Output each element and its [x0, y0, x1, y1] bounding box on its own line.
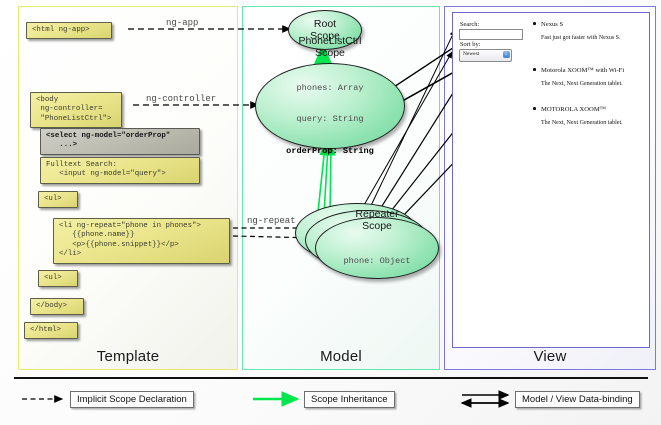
bullet-icon — [533, 22, 536, 25]
view-sort-label: Sort by: — [460, 41, 480, 48]
column-label-view: View — [445, 348, 655, 365]
code-box-input-tag: Fulltext Search: <input ng-model="query"… — [40, 157, 200, 184]
column-model: Model — [242, 6, 440, 370]
column-label-template: Template — [19, 348, 237, 365]
list-item[interactable]: Motorola XOOM™ with Wi-Fi The Next, Next… — [541, 67, 641, 88]
edge-label-ng-repeat: ng-repeat — [247, 216, 296, 226]
list-item[interactable]: MOTOROLA XOOM™ The Next, Next Generation… — [541, 106, 641, 127]
phone-name: Motorola XOOM™ with Wi-Fi — [541, 67, 641, 75]
edge-label-ng-controller: ng-controller — [146, 94, 216, 104]
code-box-select-tag: <select ng-model="orderProp" ...> — [40, 128, 200, 155]
scope-phonelistctrl: PhoneListCtrl Scope phones: Array query:… — [255, 63, 405, 149]
phone-snippet: The Next, Next Generation tablet. — [541, 119, 641, 127]
scope-prop-orderprop: orderProp: String — [286, 146, 374, 156]
legend-item-scope-inheritance: Scope Inheritance — [304, 391, 395, 408]
scope-prop-phone: phone: Object — [343, 256, 410, 266]
chevron-updown-icon — [503, 51, 510, 58]
code-box-body-tag: <body ng-controller= "PhoneListCtrl"> — [30, 92, 122, 128]
sort-by-select[interactable]: Newest — [459, 49, 512, 62]
scope-prop-phones: phones: Array — [286, 83, 374, 93]
code-box-body-close-tag: </body> — [30, 298, 84, 315]
scope-phonelistctrl-title-2: Scope — [315, 47, 345, 59]
legend-item-model-view-data-binding: Model / View Data-binding — [515, 391, 640, 408]
edge-label-ng-app: ng-app — [166, 18, 198, 28]
scope-phonelistctrl-props: phones: Array query: String orderProp: S… — [286, 62, 374, 176]
legend-item-implicit-scope-declaration: Implicit Scope Declaration — [70, 391, 194, 408]
bullet-icon — [533, 107, 536, 110]
code-box-ul-close-tag: <ul> — [38, 270, 78, 287]
scope-repeater-title-2: Scope — [362, 220, 392, 232]
scope-repeater-title-1: Repeater — [355, 208, 398, 220]
scope-repeater-props: phone: Object — [343, 235, 410, 287]
code-box-html-tag: <html ng-app> — [26, 22, 112, 39]
legend-divider — [14, 377, 648, 379]
sort-by-value: Newest — [463, 51, 479, 57]
scope-phonelistctrl-title-1: PhoneListCtrl — [298, 35, 361, 47]
search-input[interactable] — [459, 29, 523, 40]
view-search-label: Search: — [460, 21, 479, 28]
view-browser-mock: Search: Sort by: Newest Nexus S Fast jus… — [452, 12, 650, 348]
phone-name: MOTOROLA XOOM™ — [541, 106, 641, 114]
diagram-canvas: Template Model View — [0, 0, 661, 425]
code-box-ul-open-tag: <ul> — [38, 191, 78, 208]
phone-name: Nexus S — [541, 21, 641, 29]
list-item[interactable]: Nexus S Fast just got faster with Nexus … — [541, 21, 641, 42]
phone-snippet: The Next, Next Generation tablet. — [541, 80, 641, 88]
code-box-html-close-tag: </html> — [24, 322, 78, 339]
phone-snippet: Fast just got faster with Nexus S. — [541, 34, 641, 42]
column-label-model: Model — [243, 348, 439, 365]
bullet-icon — [533, 68, 536, 71]
scope-repeater: Repeater Scope phone: Object — [315, 217, 439, 279]
code-box-li-repeat-tag: <li ng-repeat="phone in phones"> {{phone… — [53, 218, 230, 264]
scope-prop-query: query: String — [286, 114, 374, 124]
scope-root-title-1: Root — [314, 18, 336, 30]
column-template: Template — [18, 6, 238, 370]
